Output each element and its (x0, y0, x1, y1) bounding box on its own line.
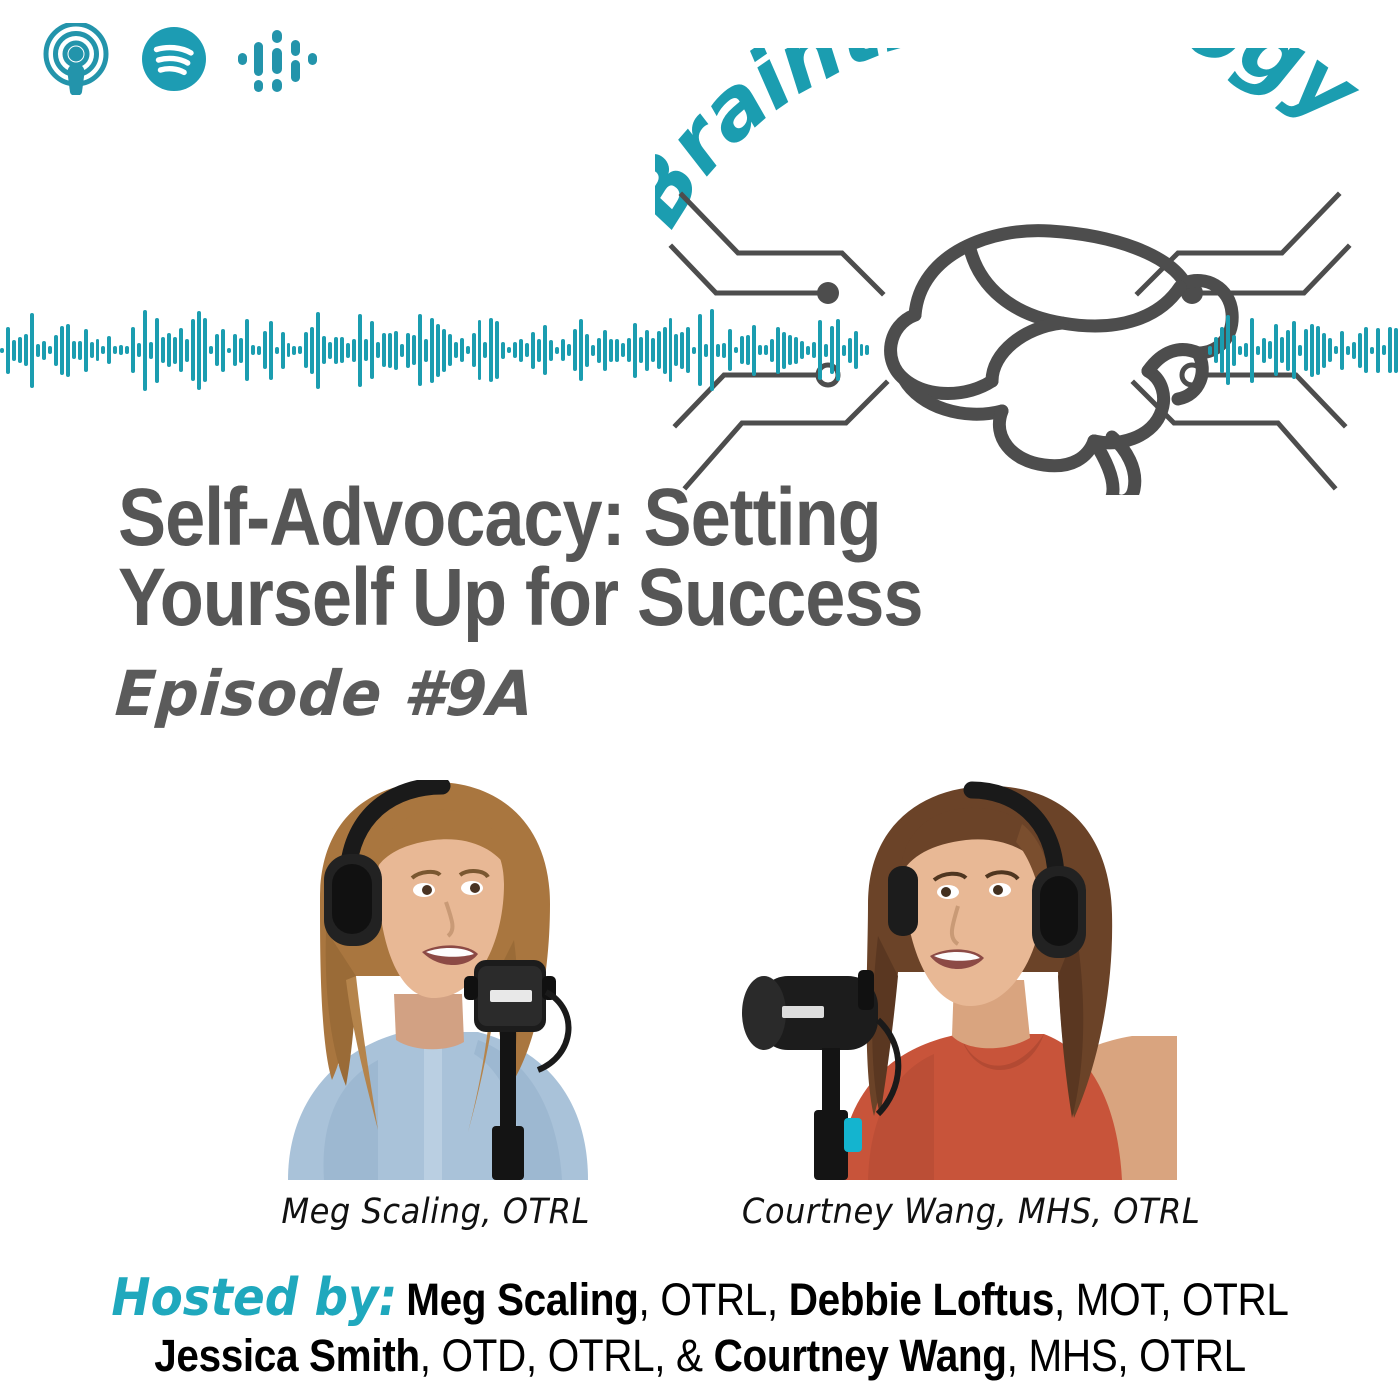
host-name-jessica-smith: Jessica Smith (154, 1330, 419, 1381)
host-credentials-meg-scaling: , OTRL, (639, 1274, 789, 1325)
hosts-block: Hosted by:Meg Scaling, OTRL, Debbie Loft… (0, 1268, 1400, 1382)
platform-icon-row (40, 22, 320, 96)
guest-caption-right: Courtney Wang, MHS, OTRL (742, 1192, 1200, 1232)
host-credentials-courtney-wang: , MHS, OTRL (1007, 1330, 1246, 1381)
host-name-meg-scaling: Meg Scaling (406, 1274, 638, 1325)
brain-icon (891, 231, 1233, 495)
mic-teal-accent (844, 1118, 862, 1152)
podcast-cover-art: Brainthropology (0, 0, 1400, 1400)
guest-photo-courtney-wang (672, 780, 1177, 1180)
host-credentials-debbie-loftus: , MOT, OTRL (1054, 1274, 1289, 1325)
guest-caption-left: Meg Scaling, OTRL (281, 1192, 590, 1232)
guest-photo-meg-scaling (228, 780, 618, 1180)
apple-podcasts-icon[interactable] (40, 23, 112, 95)
episode-number: Episode #9A (113, 657, 1239, 730)
episode-title-block: Self-Advocacy: SettingYourself Up for Su… (118, 478, 1298, 730)
audio-waveform-left (0, 305, 870, 395)
google-podcasts-icon[interactable] (236, 22, 320, 96)
host-credentials-jessica-smith: , OTD, OTRL, & (420, 1330, 714, 1381)
host-name-courtney-wang: Courtney Wang (714, 1330, 1007, 1381)
circuit-node-filled-left (817, 282, 839, 304)
hosted-by-label: Hosted by: (111, 1268, 397, 1328)
hosts-line-1: Hosted by:Meg Scaling, OTRL, Debbie Loft… (70, 1268, 1330, 1329)
audio-waveform-right (1208, 305, 1400, 395)
guest-photo-row (0, 780, 1400, 1190)
host-name-debbie-loftus: Debbie Loftus (789, 1274, 1054, 1325)
hosts-line-2: Jessica Smith, OTD, OTRL, & Courtney Wan… (70, 1329, 1330, 1382)
spotify-icon[interactable] (140, 25, 208, 93)
page-title: Self-Advocacy: SettingYourself Up for Su… (118, 478, 1156, 639)
